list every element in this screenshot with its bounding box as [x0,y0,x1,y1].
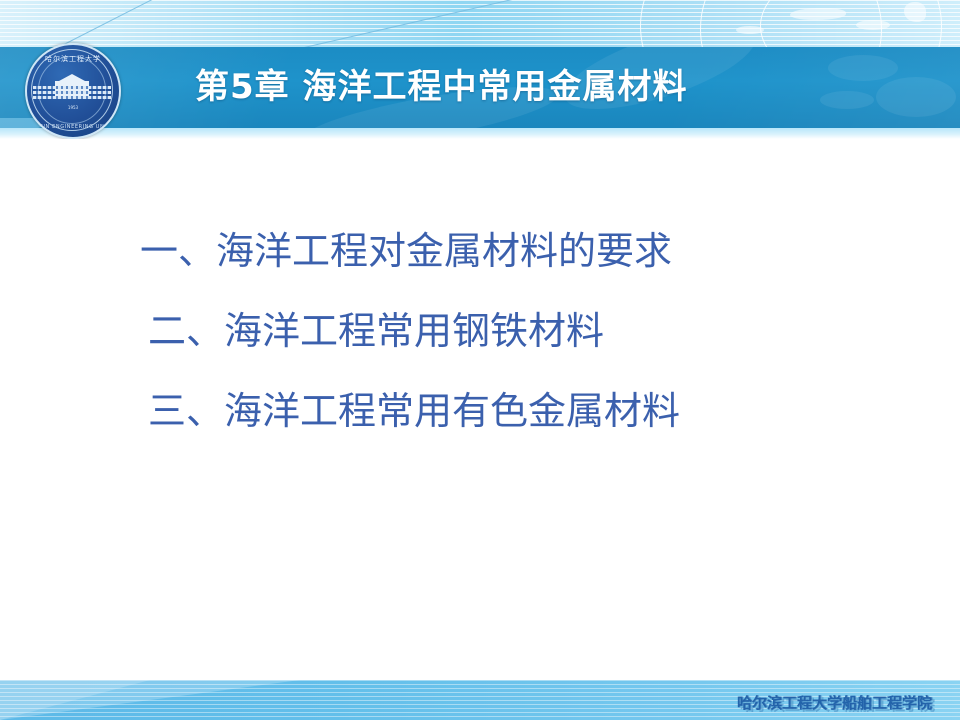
globe-landmass-icon [856,20,890,30]
logo-wave-bar [33,91,111,94]
footer-left-wedge-inner [0,680,150,720]
top-decorative-banner [0,0,960,48]
presentation-slide: 第5章 海洋工程中常用金属材料 哈尔滨工程大学 1953 HARBIN ENGI… [0,0,960,720]
logo-wave-bar [33,86,111,89]
logo-chinese-name: 哈尔滨工程大学 [27,54,119,64]
header-underline-strip [0,128,960,139]
outline-item-2[interactable]: 二、海洋工程常用钢铁材料 [148,312,898,350]
globe-landmass-icon [736,26,764,34]
globe-landmass-icon [904,2,926,22]
logo-wave-bar [33,96,111,99]
university-logo-icon: 哈尔滨工程大学 1953 HARBIN ENGINEERING UNIVERSI… [25,43,121,139]
logo-founding-year: 1953 [27,105,119,110]
footer-text: 哈尔滨工程大学船舶工程学院 [737,692,932,713]
slide-title: 第5章 海洋工程中常用金属材料 [195,47,895,128]
outline-list: 一、海洋工程对金属材料的要求 二、海洋工程常用钢铁材料 三、海洋工程常用有色金属… [138,232,898,430]
slide-body: 一、海洋工程对金属材料的要求 二、海洋工程常用钢铁材料 三、海洋工程常用有色金属… [0,139,960,680]
logo-english-name: HARBIN ENGINEERING UNIVERSITY [27,124,119,130]
banner-diagonal-line [60,0,328,47]
globe-arc-icon [640,0,942,48]
outline-item-1[interactable]: 一、海洋工程对金属材料的要求 [140,232,898,270]
outline-item-3[interactable]: 三、海洋工程常用有色金属材料 [148,392,898,430]
